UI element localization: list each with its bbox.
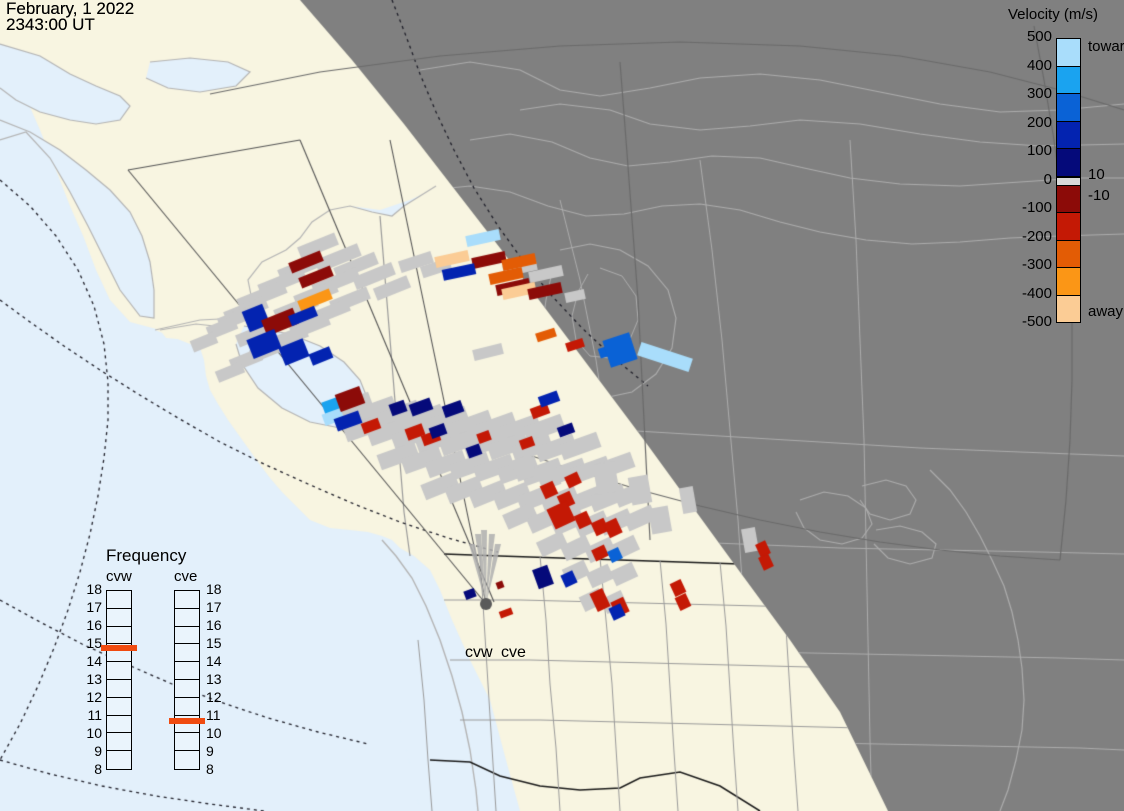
frequency-scale-cve	[174, 590, 200, 770]
frequency-cell	[107, 680, 131, 698]
frequency-tick-cvw-8: 8	[82, 761, 102, 777]
colorbar-tick-300: 300	[1027, 85, 1052, 102]
frequency-cell	[107, 591, 131, 609]
colorbar-tick-400: 400	[1027, 57, 1052, 74]
frequency-tick-cve-11: 11	[206, 707, 221, 723]
colorbar-tick-neg300: -300	[1022, 256, 1052, 273]
frequency-tick-cve-10: 10	[206, 725, 222, 741]
frequency-cell	[175, 591, 199, 609]
frequency-cell	[175, 698, 199, 716]
frequency-panel: Frequency cvw18171615141312111098cve1817…	[78, 546, 248, 791]
colorbar-title: Velocity (m/s)	[1008, 6, 1098, 23]
frequency-cell	[107, 627, 131, 645]
colorbar-segment-away-1	[1057, 213, 1080, 241]
colorbar-segment-toward-0	[1057, 39, 1080, 67]
colorbar-zero-band	[1057, 177, 1080, 186]
colorbar-negative-threshold: -10	[1088, 187, 1110, 204]
frequency-cell	[107, 609, 131, 627]
frequency-cell	[107, 698, 131, 716]
colorbar-tick-neg100: -100	[1022, 199, 1052, 216]
colorbar-segment-toward-3	[1057, 122, 1080, 150]
colorbar-tick-200: 200	[1027, 114, 1052, 131]
colorbar-tick-neg500: -500	[1022, 313, 1052, 330]
frequency-scale-cvw	[106, 590, 132, 770]
radar-label-cvw: cvw	[465, 644, 493, 662]
frequency-marker-cvw	[101, 645, 137, 651]
frequency-tick-cve-18: 18	[206, 581, 222, 597]
frequency-tick-cvw-18: 18	[82, 581, 102, 597]
frequency-cell	[175, 733, 199, 751]
frequency-column-label-cve: cve	[174, 568, 197, 585]
colorbar-positive-threshold: 10	[1088, 166, 1105, 183]
frequency-tick-cve-16: 16	[206, 617, 222, 633]
frequency-tick-cvw-14: 14	[82, 653, 102, 669]
colorbar-segment-away-2	[1057, 241, 1080, 269]
frequency-cell	[107, 733, 131, 751]
frequency-tick-cvw-17: 17	[82, 599, 102, 615]
frequency-title: Frequency	[106, 546, 186, 566]
frequency-tick-cvw-9: 9	[82, 743, 102, 759]
colorbar-tick-neg200: -200	[1022, 228, 1052, 245]
frequency-tick-cve-13: 13	[206, 671, 222, 687]
colorbar-segment-toward-2	[1057, 94, 1080, 122]
frequency-tick-cve-12: 12	[206, 689, 222, 705]
colorbar-segment-away-4	[1057, 296, 1080, 323]
frequency-tick-cve-17: 17	[206, 599, 222, 615]
timestamp-block: February, 1 2022 2343:00 UT	[6, 1, 134, 33]
frequency-tick-cve-15: 15	[206, 635, 222, 651]
frequency-tick-cvw-11: 11	[82, 707, 102, 723]
colorbar-tick-0: 0	[1044, 171, 1052, 188]
frequency-tick-cvw-12: 12	[82, 689, 102, 705]
colorbar-away-label: away	[1088, 303, 1123, 320]
colorbar-segment-toward-1	[1057, 67, 1080, 95]
frequency-tick-cvw-15: 15	[82, 635, 102, 651]
colorbar-segment-toward-4	[1057, 149, 1080, 177]
velocity-colorbar-panel: Velocity (m/s) 5004003002001000-100-200-…	[1000, 6, 1124, 336]
colorbar-tick-100: 100	[1027, 142, 1052, 159]
frequency-cell	[175, 751, 199, 769]
radar-map-screenshot: February, 1 2022 2343:00 UT Velocity (m/…	[0, 0, 1124, 811]
colorbar-segment-away-0	[1057, 186, 1080, 214]
colorbar-segment-away-3	[1057, 268, 1080, 296]
frequency-cell	[107, 716, 131, 734]
radar-label-cve: cve	[501, 644, 526, 662]
frequency-tick-cvw-16: 16	[82, 617, 102, 633]
frequency-cell	[107, 751, 131, 769]
colorbar-toward-label: toward	[1088, 38, 1124, 55]
frequency-cell	[175, 627, 199, 645]
time-label: 2343:00 UT	[6, 17, 134, 33]
frequency-cell	[107, 662, 131, 680]
frequency-tick-cve-8: 8	[206, 761, 214, 777]
frequency-tick-cvw-10: 10	[82, 725, 102, 741]
colorbar-tick-neg400: -400	[1022, 285, 1052, 302]
frequency-tick-cve-9: 9	[206, 743, 214, 759]
frequency-tick-cve-14: 14	[206, 653, 222, 669]
frequency-cell	[175, 680, 199, 698]
frequency-cell	[175, 609, 199, 627]
frequency-cell	[175, 662, 199, 680]
frequency-column-label-cvw: cvw	[106, 568, 132, 585]
colorbar-gradient	[1056, 38, 1081, 323]
colorbar-tick-500: 500	[1027, 28, 1052, 45]
frequency-cell	[175, 644, 199, 662]
frequency-marker-cve	[169, 718, 205, 724]
frequency-tick-cvw-13: 13	[82, 671, 102, 687]
